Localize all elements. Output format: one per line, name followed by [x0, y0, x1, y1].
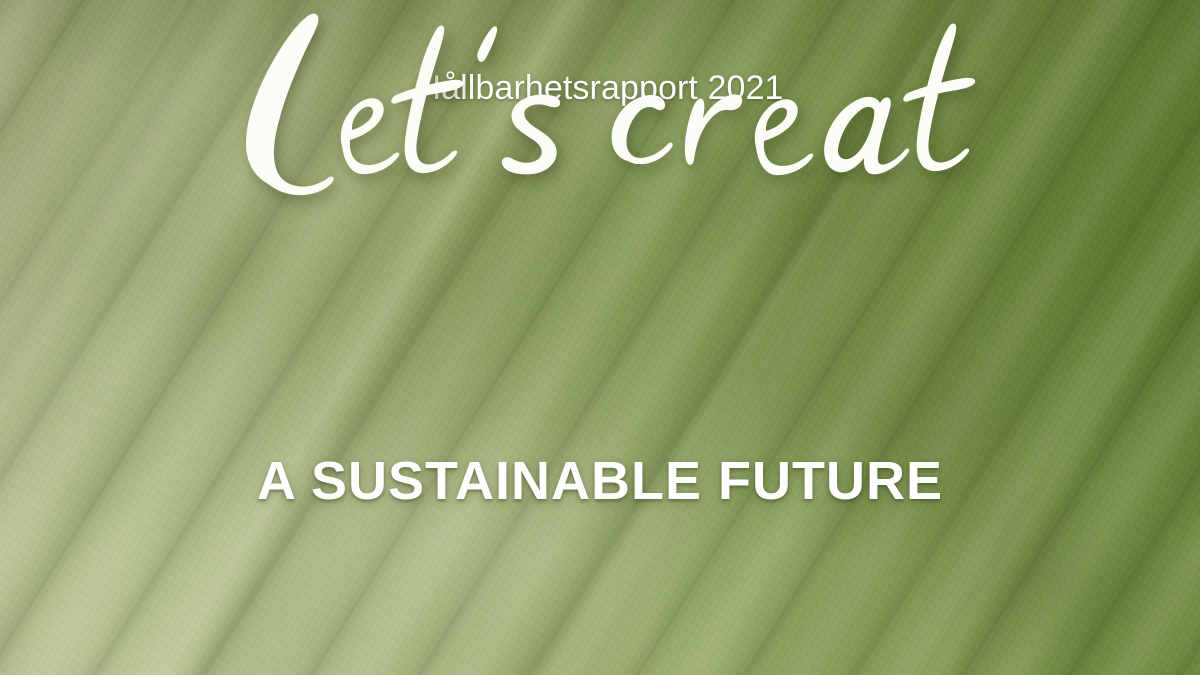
report-cover: Hållbarhetsrapport 2021 Let's create! — [0, 0, 1200, 675]
cover-text-block: Hållbarhetsrapport 2021 Let's create! — [0, 0, 1200, 675]
headline-script-artwork — [224, 0, 976, 208]
subheadline: A SUSTAINABLE FUTURE — [0, 452, 1200, 511]
